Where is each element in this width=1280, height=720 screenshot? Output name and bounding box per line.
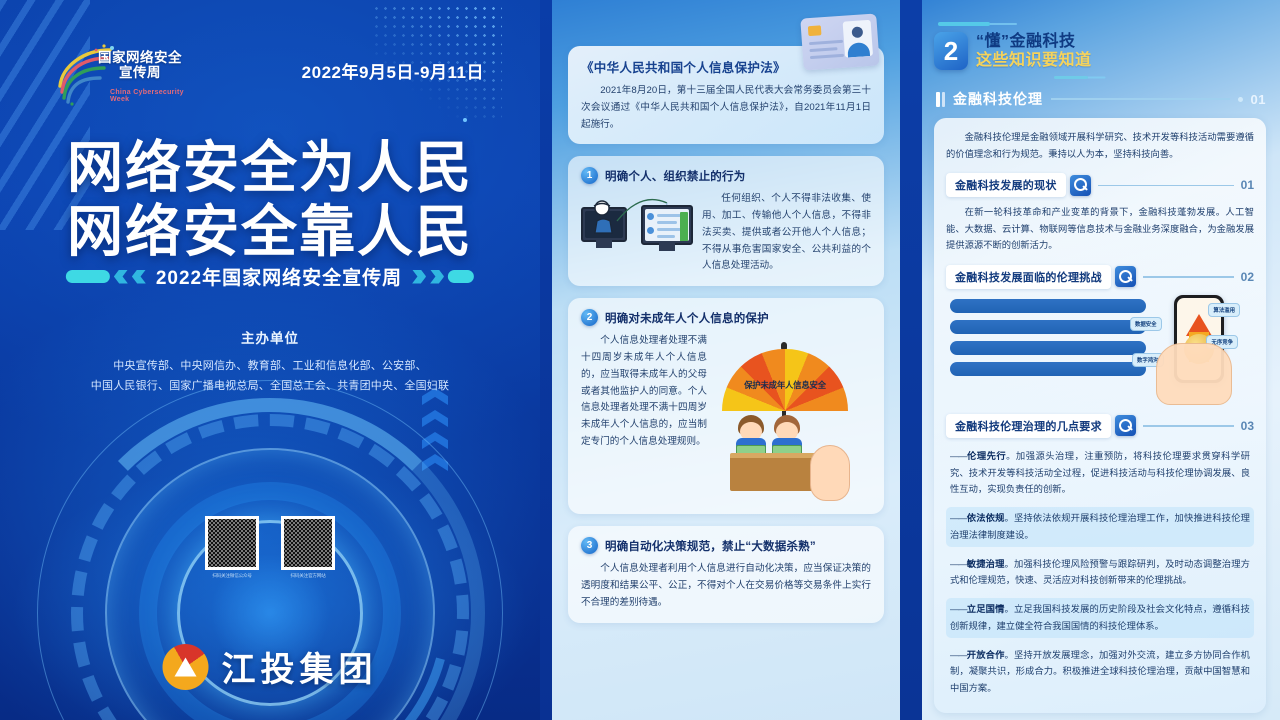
- title-tick-decoration: [938, 22, 990, 26]
- requirement-dash: ——: [950, 650, 967, 660]
- redacted-text-bars: [950, 299, 1146, 376]
- company-logo: 江投集团: [163, 642, 378, 691]
- banner-left-ornament: [66, 270, 146, 284]
- chapter-number-badge: 2: [934, 32, 968, 70]
- law-intro-card: 《中华人民共和国个人信息保护法》 2021年8月20日，第十三届全国人民代表大会…: [568, 46, 884, 144]
- logo-mark-icon: [163, 644, 209, 690]
- qr-code-group: 扫码关注微信公众号 扫码关注官方网站: [205, 516, 335, 579]
- requirement-term: 依法依规: [967, 513, 1005, 523]
- requirement-term: 立足国情: [967, 604, 1005, 614]
- qr-code-2[interactable]: [281, 516, 335, 570]
- event-banner: 2022年国家网络安全宣传周: [66, 263, 474, 290]
- minor-protection-illustration: 保护未成年人信息安全: [716, 333, 852, 503]
- section-2-body: 个人信息处理者处理不满十四周岁未成年人个人信息的，应当取得未成年人的父母或者其他…: [581, 333, 707, 450]
- subsection-01-body: 在新一轮科技革命和产业变革的背景下，金融科技蓬勃发展。人工智能、大数据、云计算、…: [946, 204, 1254, 254]
- organizer-block: 主办单位 中央宣传部、中央网信办、教育部、工业和信息化部、公安部、 中国人民银行…: [0, 327, 540, 397]
- subsection-pill: 金融科技伦理治理的几点要求: [946, 414, 1111, 438]
- section-card-2: 2 明确对未成年人个人信息的保护 个人信息处理者处理不满十四周岁未成年人个人信息…: [568, 298, 884, 514]
- tag-data-security: 数据安全: [1130, 317, 1162, 331]
- requirement-item: ——依法依规。坚持依法依规开展科技伦理治理工作，加快推进科技伦理治理法律制度建设…: [946, 507, 1254, 546]
- subsection-header-02: 金融科技发展面临的伦理挑战 02: [946, 265, 1254, 289]
- event-date: 2022年9月5日-9月11日: [302, 58, 484, 83]
- headline-line-2: 网络安全靠人民: [0, 200, 540, 264]
- panel-cybersecurity-week-poster: 国家网络安全 宣传周 China Cybersecurity Week 2022…: [0, 0, 540, 720]
- panel3-left-edge: [900, 0, 922, 720]
- section-number-badge: 2: [581, 309, 598, 326]
- panel3-title-row: 2 “懂”金融科技 这些知识要知道: [934, 32, 1266, 71]
- subsection-header-01: 金融科技发展的现状 01: [946, 173, 1254, 197]
- hand-icon: [1156, 343, 1232, 405]
- requirement-dash: ——: [950, 451, 967, 461]
- emblem-english-text: China Cybersecurity Week: [110, 89, 192, 103]
- emblem-text: 国家网络安全 宣传周: [98, 50, 182, 80]
- section-card-3: 3 明确自动化决策规范，禁止“大数据杀熟” 个人信息处理者利用个人信息进行自动化…: [568, 526, 884, 622]
- law-body: 2021年8月20日，第十三届全国人民代表大会常务委员会第三十次会议通过《中华人…: [581, 83, 871, 133]
- requirement-dash: ——: [950, 559, 967, 569]
- section-number-badge: 3: [581, 537, 598, 554]
- section-header: 1 明确个人、组织禁止的行为: [581, 167, 871, 184]
- section-header-bar: 金融科技伦理 01: [936, 89, 1266, 109]
- bars-icon: [936, 92, 945, 107]
- subsection-rule: [1143, 276, 1234, 277]
- chapter-title-line-2: 这些知识要知道: [976, 51, 1092, 71]
- requirement-term: 开放合作: [967, 650, 1005, 660]
- umbrella-label: 保护未成年人信息安全: [724, 379, 846, 391]
- subsection-number: 01: [1241, 178, 1254, 192]
- subsection-number: 02: [1241, 270, 1254, 284]
- logo-text: 江投集团: [222, 642, 378, 691]
- subsection-pill: 金融科技发展的现状: [946, 173, 1066, 197]
- poster-headline: 网络安全为人民 网络安全靠人民: [0, 136, 540, 264]
- panel2-left-edge: [540, 0, 552, 720]
- intro-text: 金融科技伦理是金融领域开展科学研究、技术开发等科技活动需要遵循的价值理念和行为规…: [946, 129, 1254, 162]
- three-panel-poster-collage: 国家网络安全 宣传周 China Cybersecurity Week 2022…: [0, 0, 1280, 720]
- section-3-body: 个人信息处理者利用个人信息进行自动化决策，应当保证决策的透明度和结果公平、公正，…: [581, 561, 871, 611]
- section-title: 明确自动化决策规范，禁止“大数据杀熟”: [605, 538, 816, 554]
- subsection-header-03: 金融科技伦理治理的几点要求 03: [946, 414, 1254, 438]
- qr-caption-1: 扫码关注微信公众号: [205, 573, 259, 579]
- title-tick-decoration-2: [1054, 76, 1088, 79]
- organizer-line-1: 中央宣传部、中央网信办、教育部、工业和信息化部、公安部、: [0, 356, 540, 376]
- panel-personal-info-protection-law: 《中华人民共和国个人信息保护法》 2021年8月20日，第十三届全国人民代表大会…: [540, 0, 900, 720]
- qr-code-item[interactable]: 扫码关注官方网站: [281, 516, 335, 579]
- magnifier-icon: [1115, 266, 1136, 287]
- organizer-label: 主办单位: [0, 327, 540, 347]
- requirement-item: ——敏捷治理。加强科技伦理风险预警与跟踪研判，及时动态调整治理方式和伦理规范，快…: [946, 553, 1254, 592]
- requirement-item: ——开放合作。坚持开放发展理念，加强对外交流，建立多方协同合作机制，凝聚共识，形…: [946, 644, 1254, 700]
- section-header: 3 明确自动化决策规范，禁止“大数据杀熟”: [581, 537, 871, 554]
- section-number-badge: 1: [581, 167, 598, 184]
- banner-text: 2022年国家网络安全宣传周: [156, 263, 402, 290]
- section-label: 金融科技伦理: [953, 89, 1043, 109]
- requirement-dash: ——: [950, 604, 967, 614]
- magnifier-icon: [1115, 415, 1136, 436]
- hand-icon: [800, 437, 856, 505]
- requirement-item: ——立足国情。立足我国科技发展的历史阶段及社会文化特点，遵循科技创新规律，建立健…: [946, 598, 1254, 637]
- monitor-icon: [641, 205, 693, 245]
- subsection-rule: [1143, 425, 1234, 426]
- subsection-rule: [1098, 185, 1234, 186]
- phishing-illustration: [581, 191, 693, 265]
- subsection-pill: 金融科技发展面临的伦理挑战: [946, 265, 1111, 289]
- section-rule: [1051, 98, 1230, 100]
- section-dot-icon: [1238, 97, 1243, 102]
- dot-accent: [463, 118, 467, 122]
- tag-algorithm-abuse: 算法滥用: [1208, 303, 1240, 317]
- mobile-fintech-illustration: 算法滥用 数据安全 无序竞争 数字鸿沟: [1130, 295, 1240, 403]
- section-header: 2 明确对未成年人个人信息的保护: [581, 309, 871, 326]
- qr-caption-2: 扫码关注官方网站: [281, 573, 335, 579]
- section-number: 01: [1251, 92, 1266, 107]
- section-title: 明确个人、组织禁止的行为: [605, 168, 745, 184]
- panel-fintech-ethics: 2 “懂”金融科技 这些知识要知道 金融科技伦理 01 金融科技伦理是金融领域开…: [900, 0, 1280, 720]
- subsection-number: 03: [1241, 419, 1254, 433]
- section-title: 明确对未成年人个人信息的保护: [605, 310, 769, 326]
- requirement-term: 伦理先行: [967, 451, 1007, 461]
- cybersecurity-week-emblem: 国家网络安全 宣传周 China Cybersecurity Week: [52, 42, 192, 110]
- headline-line-1: 网络安全为人民: [0, 136, 540, 200]
- requirement-item: ——伦理先行。加强源头治理，注重预防，将科技伦理要求贯穿科学研究、技术开发等科技…: [946, 445, 1254, 501]
- chapter-title-line-1: “懂”金融科技: [976, 32, 1092, 51]
- qr-code-item[interactable]: 扫码关注微信公众号: [205, 516, 259, 579]
- id-card-illustration: [800, 13, 879, 70]
- qr-code-1[interactable]: [205, 516, 259, 570]
- fintech-ethics-card: 金融科技伦理是金融领域开展科学研究、技术开发等科技活动需要遵循的价值理念和行为规…: [934, 118, 1266, 713]
- requirement-dash: ——: [950, 513, 967, 523]
- section-1-body: 任何组织、个人不得非法收集、使用、加工、传输他人个人信息，不得非法买卖、提供或者…: [702, 191, 871, 275]
- organizer-line-2: 中国人民银行、国家广播电视总局、全国总工会、共青团中央、全国妇联: [0, 376, 540, 396]
- section-card-1: 1 明确个人、组织禁止的行为: [568, 156, 884, 286]
- magnifier-icon: [1070, 175, 1091, 196]
- requirement-term: 敏捷治理: [967, 559, 1005, 569]
- banner-right-ornament: [412, 270, 474, 284]
